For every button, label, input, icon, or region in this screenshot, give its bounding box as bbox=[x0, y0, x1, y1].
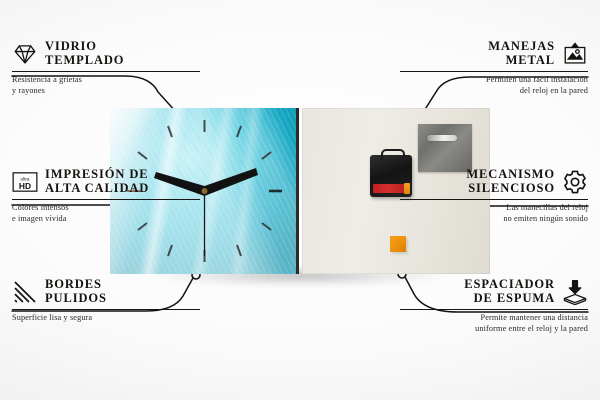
metal-hanger-plate bbox=[418, 124, 472, 172]
feature-desc-line2: e imagen vívida bbox=[12, 214, 67, 223]
feature-desc-line1: Colores intensos bbox=[12, 203, 69, 212]
feature-title-line1: MECANISMO bbox=[466, 167, 555, 181]
feature-divider bbox=[12, 199, 200, 200]
feature-divider bbox=[400, 199, 588, 200]
feature-desc-line1: Permite mantener una distancia bbox=[481, 313, 589, 322]
feature-header: BORDES PULIDOS bbox=[12, 278, 200, 305]
foam-spacer bbox=[390, 236, 406, 252]
feature-title-line1: BORDES bbox=[45, 277, 102, 291]
feature-bordes-pulidos: BORDES PULIDOS Superficie lisa y segura bbox=[12, 278, 200, 324]
feature-desc-line1: Superficie lisa y segura bbox=[12, 313, 92, 322]
product-infographic: VIDRIO TEMPLADO Resistencia a grietas y … bbox=[0, 0, 600, 400]
feature-title-line2: METAL bbox=[506, 53, 555, 67]
feature-title-line1: MANEJAS bbox=[488, 39, 555, 53]
feature-description: Permiten una fácil instalación del reloj… bbox=[400, 75, 588, 95]
feature-title: BORDES PULIDOS bbox=[45, 278, 107, 305]
arrow-down-on-pad-icon bbox=[562, 279, 588, 305]
feature-divider bbox=[400, 71, 588, 72]
feature-divider bbox=[400, 309, 588, 310]
feature-title: MECANISMO SILENCIOSO bbox=[466, 168, 555, 195]
feature-divider bbox=[12, 71, 200, 72]
feature-desc-line2: no emiten ningún sonido bbox=[503, 214, 588, 223]
picture-frame-hanger-icon bbox=[562, 41, 588, 67]
feature-desc-line2: uniforme entre el reloj y la pared bbox=[475, 324, 588, 333]
feature-header: ESPACIADOR DE ESPUMA bbox=[400, 278, 588, 305]
gear-icon bbox=[562, 169, 588, 195]
feature-desc-line2: del reloj en la pared bbox=[520, 86, 588, 95]
feature-title: MANEJAS METAL bbox=[488, 40, 555, 67]
feature-header: ultra HD IMPRESIÓN DE ALTA CALIDAD bbox=[12, 168, 200, 195]
feature-description: Resistencia a grietas y rayones bbox=[12, 75, 200, 95]
feature-description: Las manecillas del reloj no emiten ningú… bbox=[400, 203, 588, 223]
feature-mecanismo-silencioso: MECANISMO SILENCIOSO Las manecillas del … bbox=[400, 168, 588, 224]
feature-header: VIDRIO TEMPLADO bbox=[12, 40, 200, 67]
feature-espaciador-de-espuma: ESPACIADOR DE ESPUMA Permite mantener un… bbox=[400, 278, 588, 334]
feature-title-line1: ESPACIADOR bbox=[464, 277, 555, 291]
mechanism-hanging-loop bbox=[381, 149, 405, 161]
hands-pivot bbox=[202, 188, 208, 194]
feature-divider bbox=[12, 309, 200, 310]
feature-description: Superficie lisa y segura bbox=[12, 313, 200, 323]
feature-title: IMPRESIÓN DE ALTA CALIDAD bbox=[45, 168, 149, 195]
feature-header: MECANISMO SILENCIOSO bbox=[400, 168, 588, 195]
ultra-hd-icon: ultra HD bbox=[12, 169, 38, 195]
diamond-icon bbox=[12, 41, 38, 67]
feature-description: Permite mantener una distancia uniforme … bbox=[400, 313, 588, 333]
feature-title: ESPACIADOR DE ESPUMA bbox=[464, 278, 555, 305]
feature-desc-line2: y rayones bbox=[12, 86, 45, 95]
feature-title-line2: SILENCIOSO bbox=[468, 181, 555, 195]
feature-manejas-metal: MANEJAS METAL Permiten una fácil instala… bbox=[400, 40, 588, 96]
feature-desc-line1: Resistencia a grietas bbox=[12, 75, 82, 84]
feature-title-line1: VIDRIO bbox=[45, 39, 97, 53]
feature-desc-line1: Las manecillas del reloj bbox=[506, 203, 588, 212]
feature-impresion-alta-calidad: ultra HD IMPRESIÓN DE ALTA CALIDAD Color… bbox=[12, 168, 200, 224]
hanger-slot bbox=[427, 135, 457, 141]
feature-title-line2: ALTA CALIDAD bbox=[45, 181, 149, 195]
feature-desc-line1: Permiten una fácil instalación bbox=[486, 75, 588, 84]
feature-title-line2: TEMPLADO bbox=[45, 53, 124, 67]
svg-text:HD: HD bbox=[19, 180, 31, 190]
feature-title: VIDRIO TEMPLADO bbox=[45, 40, 124, 67]
feature-header: MANEJAS METAL bbox=[400, 40, 588, 67]
feature-description: Colores intensos e imagen vívida bbox=[12, 203, 200, 223]
polished-edge-icon bbox=[12, 279, 38, 305]
feature-title-line2: DE ESPUMA bbox=[474, 291, 555, 305]
feature-title-line1: IMPRESIÓN DE bbox=[45, 167, 149, 181]
feature-title-line2: PULIDOS bbox=[45, 291, 107, 305]
minute-hand bbox=[205, 168, 259, 196]
feature-vidrio-templado: VIDRIO TEMPLADO Resistencia a grietas y … bbox=[12, 40, 200, 96]
